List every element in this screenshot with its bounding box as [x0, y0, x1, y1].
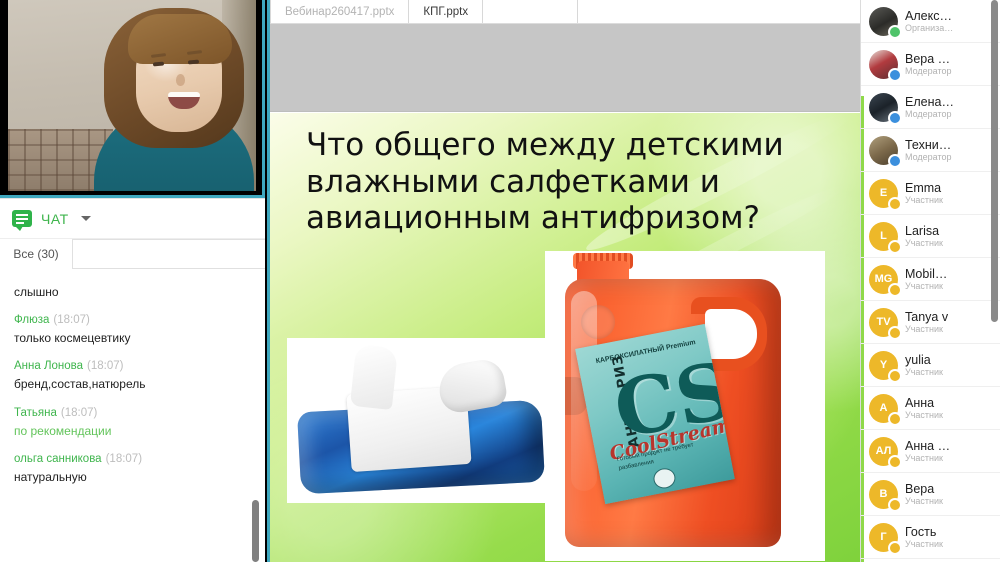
role-badge-icon — [888, 498, 902, 512]
participant-role: Участник — [905, 195, 943, 205]
chat-message-text: по рекомендации — [14, 423, 251, 439]
participant-role: Организа… — [905, 23, 953, 33]
participant-row[interactable]: Г Гость Участник — [861, 516, 1000, 559]
participant-info: Елена… Модератор — [905, 95, 954, 120]
chat-message-text: натуральную — [14, 469, 251, 485]
participant-info: yulia Участник — [905, 353, 943, 378]
participant-info: Mobil… Участник — [905, 267, 947, 292]
document-tab-empty[interactable] — [483, 0, 578, 23]
avatar: L — [869, 222, 898, 251]
participant-name: Техни… — [905, 138, 952, 152]
avatar — [869, 7, 898, 36]
participant-info: Emma Участник — [905, 181, 943, 206]
role-badge-icon — [888, 326, 902, 340]
avatar — [869, 93, 898, 122]
chat-message: Флюза(18:07) только космецевтику — [14, 314, 251, 346]
bottle-label-seal — [652, 466, 677, 490]
participant-role: Участник — [905, 453, 950, 463]
avatar-initials: Г — [880, 531, 886, 543]
role-badge-icon — [888, 111, 902, 125]
avatar-initials: MG — [875, 273, 893, 285]
avatar-initials: А — [880, 402, 888, 414]
participant-role: Участник — [905, 324, 948, 334]
presentation-area: Вебинар260417.pptx КПГ.pptx Что общего м… — [270, 0, 860, 562]
chat-message: Анна Лонова(18:07) бренд,состав,натюрель — [14, 360, 251, 392]
chat-message-text: слышно — [14, 284, 251, 300]
chat-message-text: только космецевтику — [14, 330, 251, 346]
participant-name: Emma — [905, 181, 943, 195]
role-badge-icon — [888, 541, 902, 555]
participant-info: Tanya v Участник — [905, 310, 948, 335]
role-badge-icon — [888, 240, 902, 254]
avatar-initials: L — [880, 230, 887, 242]
chat-header[interactable]: ЧАТ — [0, 199, 265, 239]
chat-message-author: Флюза — [14, 314, 49, 326]
chat-title: ЧАТ — [41, 211, 69, 227]
participant-role: Модератор — [905, 109, 954, 119]
avatar: TV — [869, 308, 898, 337]
participants-scrollbar[interactable] — [991, 0, 998, 322]
participant-info: Гость Участник — [905, 525, 943, 550]
role-badge-icon — [888, 25, 902, 39]
bottle-embossed-logo — [581, 305, 615, 339]
participant-name: Mobil… — [905, 267, 947, 281]
chat-tab-all[interactable]: Все (30) — [0, 239, 72, 269]
webinar-app-window: ЧАТ Все (30) слышно Флюза(18:07) только … — [0, 0, 1000, 562]
chat-message-meta: Татьяна(18:07) — [14, 407, 251, 419]
participant-info: Вера Участник — [905, 482, 943, 507]
wet-wipes-photo — [287, 338, 557, 503]
presenter-fringe — [128, 14, 232, 64]
avatar-initials: Y — [880, 359, 887, 371]
role-badge-icon — [888, 455, 902, 469]
wipes-tissue-left — [350, 344, 398, 410]
participant-role: Модератор — [905, 66, 952, 76]
chat-message: Татьяна(18:07) по рекомендации — [14, 407, 251, 439]
avatar: Г — [869, 523, 898, 552]
participant-row[interactable]: Техни… Модератор — [861, 129, 1000, 172]
role-badge-icon — [888, 283, 902, 297]
participant-name: Анна … — [905, 439, 950, 453]
participant-name: Алекс… — [905, 9, 953, 23]
participant-name: Гость — [905, 525, 943, 539]
avatar: E — [869, 179, 898, 208]
participant-role: Участник — [905, 539, 943, 549]
document-tab-filler — [578, 0, 860, 23]
participant-name: Елена… — [905, 95, 954, 109]
chat-message-author: Татьяна — [14, 407, 57, 419]
document-tab-kpg[interactable]: КПГ.pptx — [409, 0, 483, 23]
bottle-handle-hole — [705, 309, 757, 359]
antifreeze-bottle-photo: КАРБОКСИЛАТНЫЙ Premium АНТИФРИЗ CS CoolS… — [545, 251, 825, 561]
chat-message: слышно — [14, 284, 251, 300]
participant-row[interactable]: А Анна Участник — [861, 387, 1000, 430]
avatar-initials: E — [880, 187, 887, 199]
avatar-initials: В — [880, 488, 888, 500]
participant-row[interactable]: L Larisa Участник — [861, 215, 1000, 258]
avatar — [869, 50, 898, 79]
participants-panel[interactable]: Алекс… Организа… Вера … Модератор Елена…… — [860, 0, 1000, 562]
role-badge-icon — [888, 154, 902, 168]
participant-info: Вера … Модератор — [905, 52, 952, 77]
document-tab-webinar[interactable]: Вебинар260417.pptx — [270, 0, 409, 23]
chat-tab-bar: Все (30) — [0, 239, 265, 269]
participant-row[interactable]: MG Mobil… Участник — [861, 258, 1000, 301]
participant-info: Анна Участник — [905, 396, 943, 421]
participant-info: Анна … Участник — [905, 439, 950, 464]
participant-name: yulia — [905, 353, 943, 367]
participant-row[interactable]: E Emma Участник — [861, 172, 1000, 215]
participant-name: Анна — [905, 396, 943, 410]
chat-message-meta: ольга санникова(18:07) — [14, 453, 251, 465]
chat-tab-secondary[interactable] — [72, 239, 265, 269]
chat-message-author: Анна Лонова — [14, 360, 83, 372]
chat-message-time: (18:07) — [87, 360, 123, 372]
participant-name: Вера … — [905, 52, 952, 66]
slide-title: Что общего между детскими влажными салфе… — [306, 127, 836, 237]
participant-name: Вера — [905, 482, 943, 496]
webcam-speaker-video[interactable] — [0, 0, 265, 198]
participant-row[interactable]: АЛ Анна … Участник — [861, 430, 1000, 473]
avatar: В — [869, 480, 898, 509]
chat-panel: ЧАТ Все (30) слышно Флюза(18:07) только … — [0, 198, 265, 562]
webcam-video-frame — [8, 0, 256, 191]
participant-row[interactable]: Y yulia Участник — [861, 344, 1000, 387]
participant-info: Техни… Модератор — [905, 138, 952, 163]
participant-role: Участник — [905, 496, 943, 506]
chat-message-time: (18:07) — [61, 407, 97, 419]
participant-role: Модератор — [905, 152, 952, 162]
participant-role: Участник — [905, 238, 943, 248]
document-tab-bar: Вебинар260417.pptx КПГ.pptx — [270, 0, 860, 24]
avatar-initials: АЛ — [876, 445, 892, 457]
participant-role: Участник — [905, 367, 943, 377]
chat-message-author: ольга санникова — [14, 453, 102, 465]
participant-row[interactable]: В Вера Участник — [861, 473, 1000, 516]
participant-info: Алекс… Организа… — [905, 9, 953, 34]
role-badge-icon — [888, 412, 902, 426]
participant-name: Larisa — [905, 224, 943, 238]
avatar — [869, 136, 898, 165]
participant-role: Участник — [905, 281, 947, 291]
participant-info: Larisa Участник — [905, 224, 943, 249]
avatar: А — [869, 394, 898, 423]
avatar: MG — [869, 265, 898, 294]
slide-letterbox-band — [270, 24, 860, 112]
chat-message-meta: Анна Лонова(18:07) — [14, 360, 251, 372]
participant-row[interactable]: Алекс… Организа… — [861, 0, 1000, 43]
chat-message-time: (18:07) — [106, 453, 142, 465]
participant-row[interactable]: Вера … Модератор — [861, 43, 1000, 86]
role-badge-icon — [888, 68, 902, 82]
chat-message-meta: Флюза(18:07) — [14, 314, 251, 326]
chat-message-time: (18:07) — [53, 314, 89, 326]
chevron-down-icon[interactable] — [81, 216, 91, 221]
slide-canvas[interactable]: Что общего между детскими влажными салфе… — [270, 113, 860, 562]
left-column: ЧАТ Все (30) слышно Флюза(18:07) только … — [0, 0, 265, 562]
chat-message-list[interactable]: слышно Флюза(18:07) только космецевтику … — [0, 270, 265, 562]
avatar-initials: TV — [876, 316, 890, 328]
presenter-nose — [176, 74, 185, 86]
participant-role: Участник — [905, 410, 943, 420]
avatar: Y — [869, 351, 898, 380]
participant-row[interactable]: Елена… Модератор — [861, 86, 1000, 129]
chat-message-text: бренд,состав,натюрель — [14, 376, 251, 392]
participant-row[interactable]: TV Tanya v Участник — [861, 301, 1000, 344]
participant-name: Tanya v — [905, 310, 948, 324]
chat-bubble-icon — [12, 210, 32, 227]
avatar: АЛ — [869, 437, 898, 466]
role-badge-icon — [888, 369, 902, 383]
chat-scrollbar[interactable] — [252, 500, 259, 562]
role-badge-icon — [888, 197, 902, 211]
chat-message: ольга санникова(18:07) натуральную — [14, 453, 251, 485]
